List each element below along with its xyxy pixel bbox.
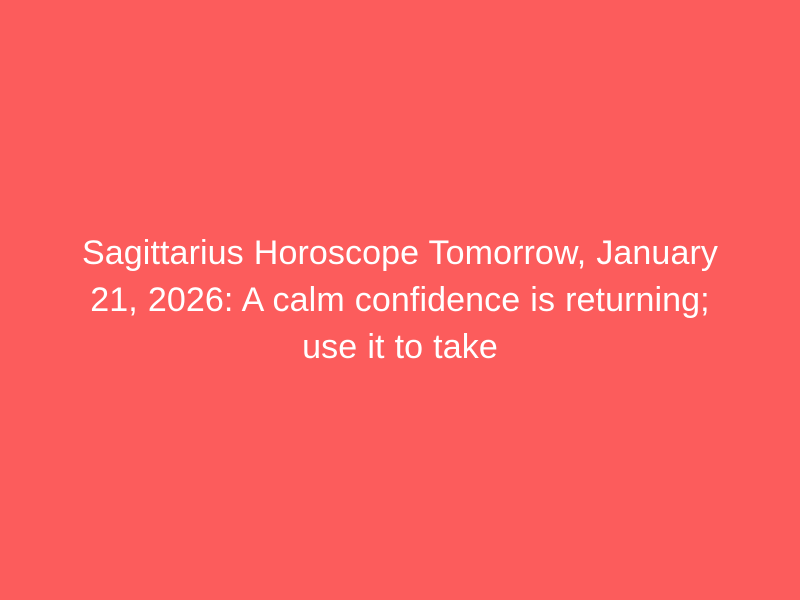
headline-block: Sagittarius Horoscope Tomorrow, January … bbox=[50, 230, 750, 371]
horoscope-share-card: Sagittarius Horoscope Tomorrow, January … bbox=[0, 0, 800, 600]
page-title: Sagittarius Horoscope Tomorrow, January … bbox=[58, 230, 742, 371]
